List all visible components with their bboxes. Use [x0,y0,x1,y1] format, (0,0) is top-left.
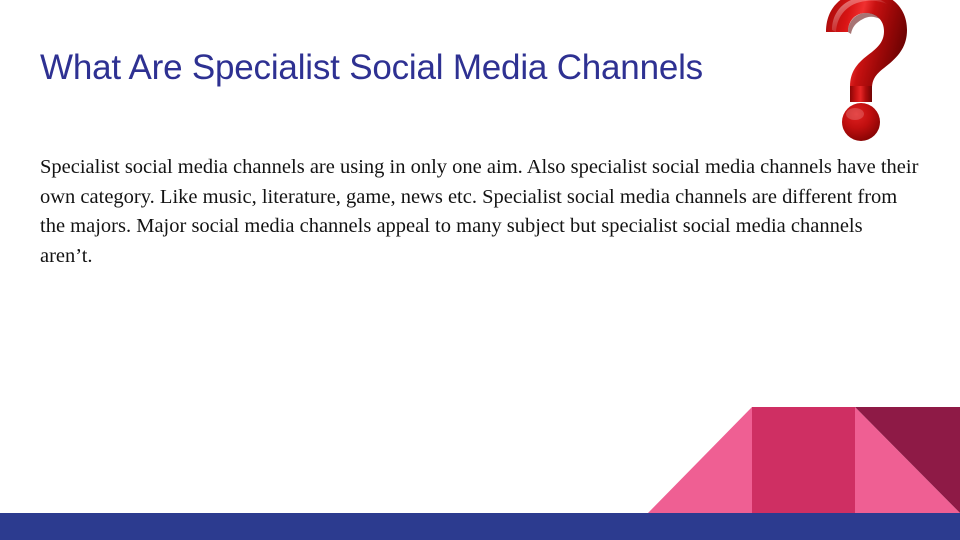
deco-rectangle-magenta [752,407,855,513]
question-mark-graphic [812,0,916,150]
deco-triangle-right-pink [855,407,960,513]
bottom-bar [0,513,960,540]
question-mark-dot [842,103,880,141]
body-paragraph: Specialist social media channels are usi… [40,153,920,271]
question-mark-icon [812,0,916,150]
deco-triangle-left-pink [648,407,752,513]
question-mark-dot-highlight [846,108,864,120]
slide-canvas: What Are Specialist Social Media Channel… [0,0,960,540]
question-mark-stem [850,86,872,102]
deco-triangle-right-maroon [855,407,960,513]
page-title: What Are Specialist Social Media Channel… [40,46,830,90]
